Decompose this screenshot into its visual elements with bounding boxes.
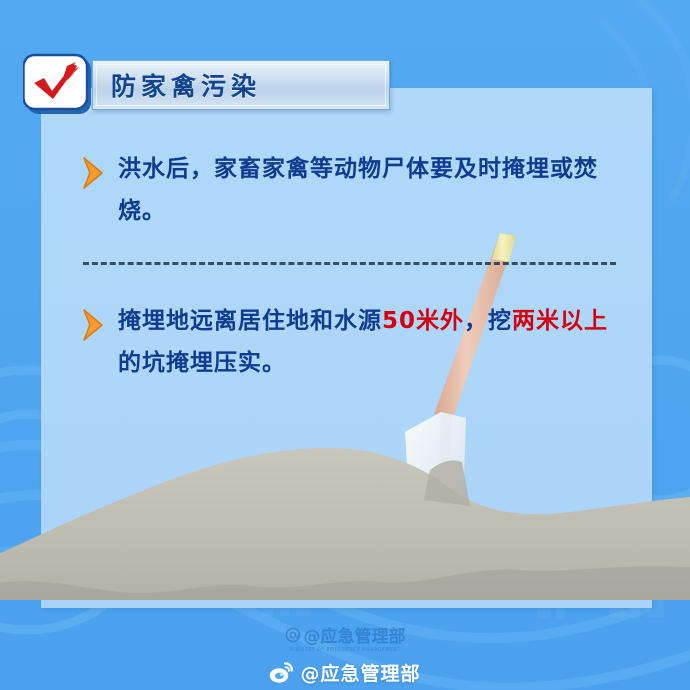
watermark-subtitle: MINISTRY OF EMERGENCY MANAGEMENT [0,648,690,654]
orange-chevron-icon [78,154,108,192]
red-check-icon [23,52,95,118]
weibo-account: @应急管理部 [300,659,420,686]
weibo-icon [269,662,293,684]
bullet-text-2: 掩埋地远离居住地和水源50米外，挖两米以上的坑掩埋压实。 [118,300,608,384]
watermark: @应急管理部 MINISTRY OF EMERGENCY MANAGEMENT [0,622,690,653]
body-text: 洪水后，家畜家禽等动物尸体要及时掩埋或焚烧。 [118,156,598,224]
bullet-item-1: 洪水后，家畜家禽等动物尸体要及时掩埋或焚烧。 [78,148,608,232]
body-text: 掩埋地远离居住地和水源 [118,308,382,334]
orange-chevron-icon [78,306,108,344]
section-title-bar: 防家禽污染 [92,60,390,110]
bullet-text-1: 洪水后，家畜家禽等动物尸体要及时掩埋或焚烧。 [118,148,608,232]
weibo-handle[interactable]: @应急管理部 [0,659,690,686]
at-symbol-icon [285,627,301,643]
page-title: 防家禽污染 [111,67,261,103]
poster-canvas: 防家禽污染 洪水后，家畜家禽等动物尸体要及时掩埋或焚烧。 掩埋地远离居住地和水源… [0,0,690,690]
body-text: 的坑掩埋压实。 [118,350,286,376]
bullet-item-2: 掩埋地远离居住地和水源50米外，挖两米以上的坑掩埋压实。 [78,300,608,384]
highlight-text: 两米以上 [512,308,608,334]
watermark-row: @应急管理部 [0,622,690,647]
watermark-name: @应急管理部 [304,622,406,647]
dashed-divider [83,262,616,265]
highlight-text: 50米外 [382,308,464,334]
body-text: ，挖 [464,308,512,334]
